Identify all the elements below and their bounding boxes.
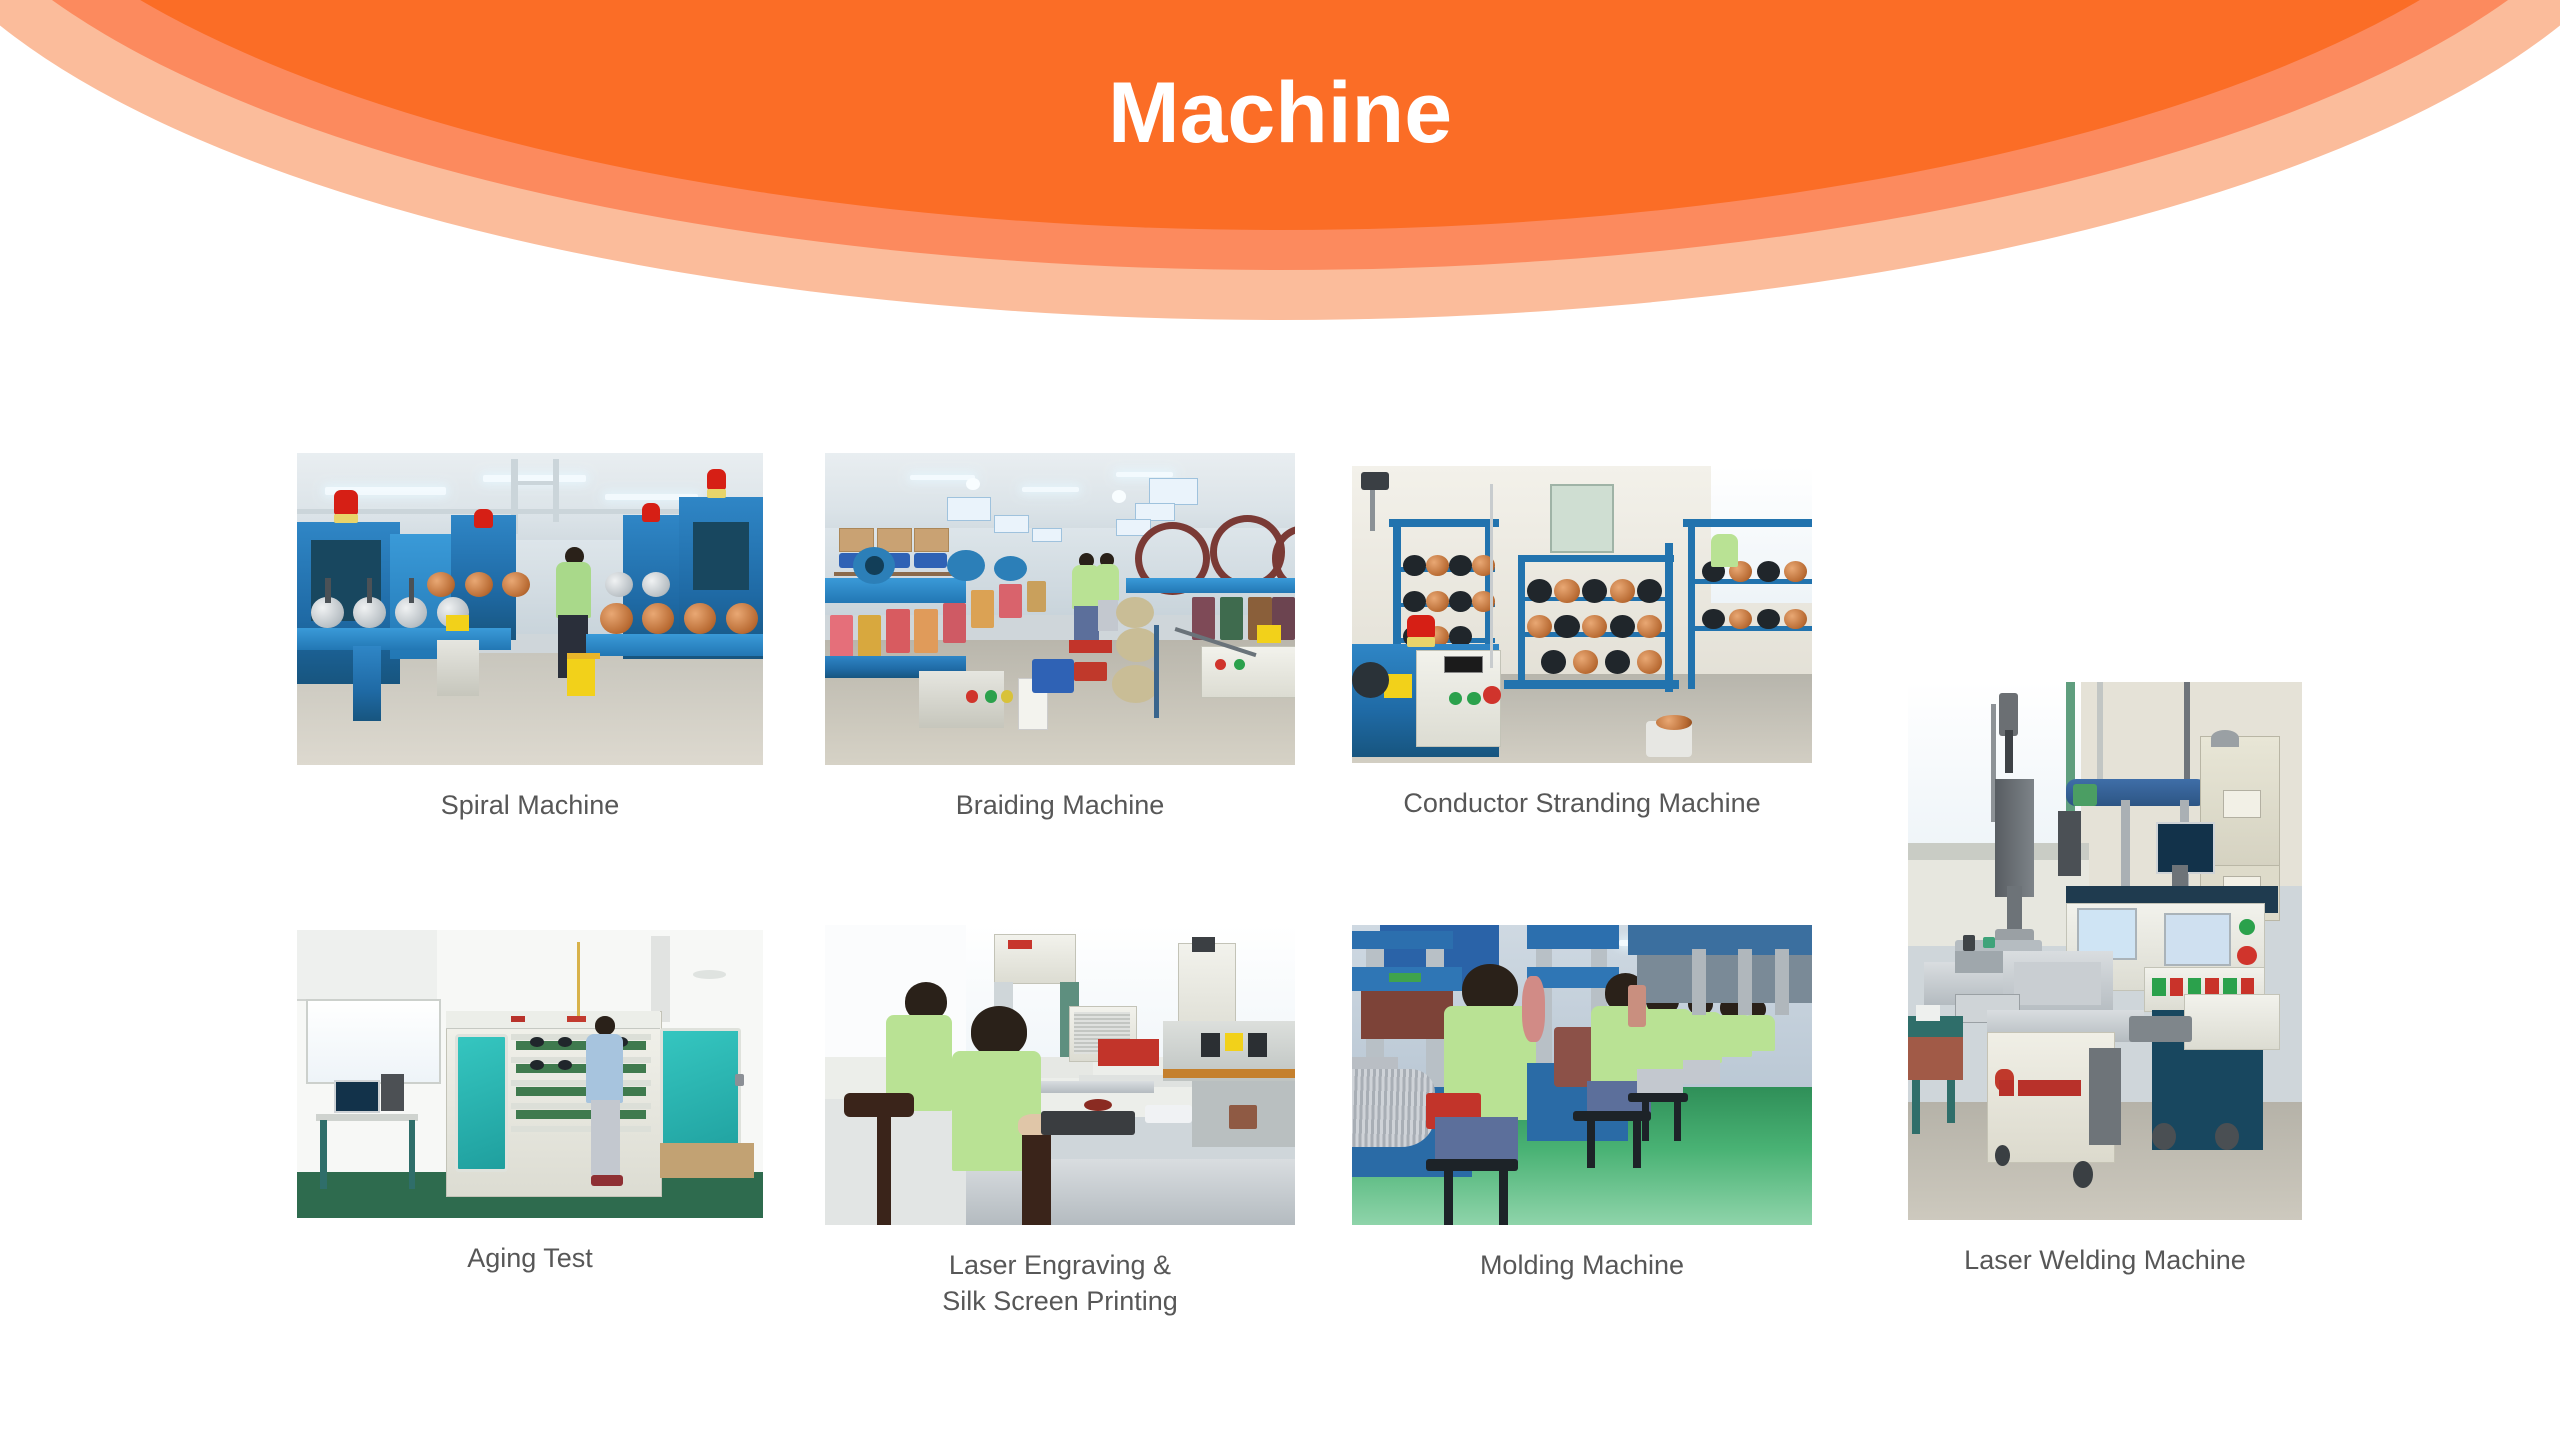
photo-card-conductor-stranding-machine[interactable]: Conductor Stranding Machine bbox=[1352, 466, 1812, 821]
photo-card-laser-engraving-silk-screen-printing[interactable]: Laser Engraving & Silk Screen Printing bbox=[825, 925, 1295, 1319]
photo-card-braiding-machine[interactable]: Braiding Machine bbox=[825, 453, 1295, 823]
photo-aging-test bbox=[297, 930, 763, 1218]
photo-conductor-stranding-machine bbox=[1352, 466, 1812, 763]
photo-card-molding-machine[interactable]: Molding Machine bbox=[1352, 925, 1812, 1283]
page-title: Machine bbox=[0, 70, 2560, 156]
photo-card-spiral-machine[interactable]: Spiral Machine bbox=[297, 453, 763, 823]
photo-card-laser-welding-machine[interactable]: Laser Welding Machine bbox=[1908, 682, 2302, 1278]
photo-caption: Conductor Stranding Machine bbox=[1352, 785, 1812, 821]
photo-caption: Laser Engraving & Silk Screen Printing bbox=[825, 1247, 1295, 1319]
photo-gallery: Spiral Machine bbox=[0, 0, 2560, 1440]
photo-caption: Laser Welding Machine bbox=[1908, 1242, 2302, 1278]
photo-molding-machine bbox=[1352, 925, 1812, 1225]
photo-caption: Molding Machine bbox=[1352, 1247, 1812, 1283]
photo-laser-welding-machine bbox=[1908, 682, 2302, 1220]
photo-caption: Aging Test bbox=[297, 1240, 763, 1276]
photo-caption: Braiding Machine bbox=[825, 787, 1295, 823]
photo-card-aging-test[interactable]: Aging Test bbox=[297, 930, 763, 1276]
photo-spiral-machine bbox=[297, 453, 763, 765]
photo-laser-engraving-silk-screen-printing bbox=[825, 925, 1295, 1225]
photo-braiding-machine bbox=[825, 453, 1295, 765]
photo-caption: Spiral Machine bbox=[297, 787, 763, 823]
